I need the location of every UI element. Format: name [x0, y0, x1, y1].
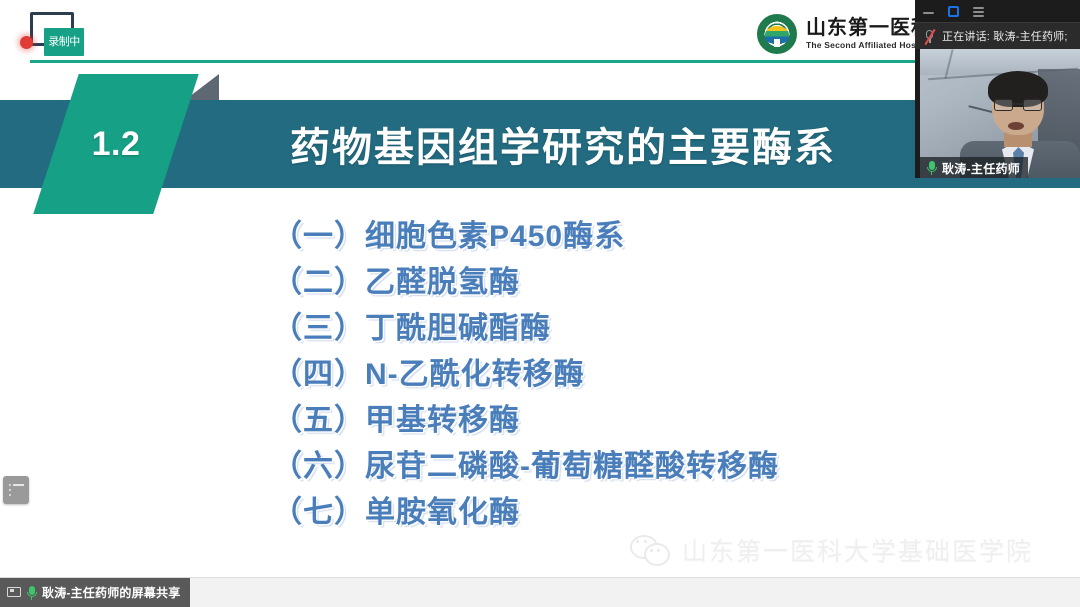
university-logo-text: 山东第一医科 The Second Affiliated Hos	[806, 18, 932, 50]
bottom-status-bar: 耿涛-主任药师的屏幕共享	[0, 577, 1080, 607]
slide-number: 1.2	[56, 74, 176, 214]
list-item: （二）乙醛脱氢酶	[272, 268, 779, 298]
screen-share-label: 耿涛-主任药师的屏幕共享	[42, 584, 180, 601]
speaking-status-bar: 正在讲话: 耿涛-主任药师;	[915, 22, 1080, 49]
slide-content-list: （一）细胞色素P450酶系 （二）乙醛脱氢酶 （三）丁酰胆碱酯酶 （四）N-乙酰…	[272, 222, 779, 544]
list-item: （三）丁酰胆碱酯酶	[272, 314, 779, 344]
watermark-text: 山东第一医科大学基础医学院	[682, 532, 1033, 568]
participant-name: 耿涛-主任药师	[942, 160, 1020, 177]
list-item: （六）尿苷二磷酸-葡萄糖醛酸转移酶	[272, 452, 779, 482]
recording-indicator: 录制中	[20, 12, 84, 58]
university-name-cn: 山东第一医科	[806, 18, 932, 39]
slide-title: 药物基因组学研究的主要酶系	[290, 100, 836, 188]
list-panel-icon[interactable]	[3, 476, 29, 504]
mic-on-icon	[26, 586, 37, 600]
minimize-icon[interactable]	[922, 5, 935, 18]
video-panel[interactable]: 正在讲话: 耿涛-主任药师; 耿涛-主任药师	[915, 0, 1080, 178]
university-name-en: The Second Affiliated Hos	[806, 41, 932, 50]
speaking-status-text: 正在讲话: 耿涛-主任药师;	[942, 28, 1068, 44]
list-item: （七）单胺氧化酶	[272, 498, 779, 528]
participant-video-feed[interactable]: 耿涛-主任药师	[915, 49, 1080, 178]
wechat-icon	[630, 535, 670, 565]
list-item: （四）N-乙酰化转移酶	[272, 360, 779, 390]
list-item: （五）甲基转移酶	[272, 406, 779, 436]
screen-share-icon	[7, 587, 21, 599]
recording-dot-icon	[20, 36, 33, 49]
mic-on-icon	[926, 161, 937, 175]
participant-mouth	[1008, 122, 1024, 130]
participant-glasses	[994, 99, 1042, 111]
recording-badge-label: 录制中	[44, 28, 84, 56]
university-logo: 山东第一医科 The Second Affiliated Hos	[757, 14, 932, 54]
screen-share-chip[interactable]: 耿涛-主任药师的屏幕共享	[0, 578, 190, 607]
meeting-screen-share-view: 录制中 山东第一医科 The Second Affiliated Hos 1.2…	[0, 0, 1080, 607]
mic-muted-icon	[923, 29, 936, 44]
participant-name-bar: 耿涛-主任药师	[920, 157, 1028, 178]
university-crest-icon	[757, 14, 797, 54]
maximize-icon[interactable]	[947, 5, 960, 18]
list-item: （一）细胞色素P450酶系	[272, 222, 779, 252]
wechat-watermark: 山东第一医科大学基础医学院	[630, 532, 1033, 568]
video-panel-titlebar	[915, 0, 1080, 22]
menu-icon[interactable]	[972, 5, 985, 18]
